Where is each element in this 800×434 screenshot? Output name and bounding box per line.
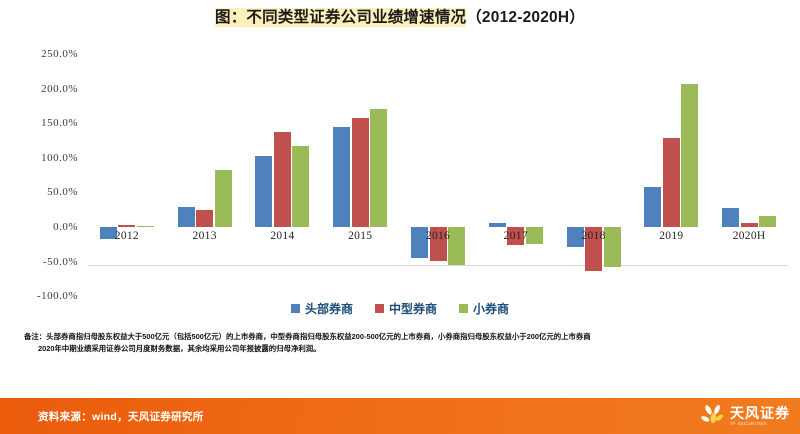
bar-2017-小券商[interactable] xyxy=(526,227,543,244)
bar-2012-小券商[interactable] xyxy=(137,226,154,228)
legend-swatch-icon xyxy=(375,304,384,313)
bar-2014-小券商[interactable] xyxy=(292,146,309,227)
legend-swatch-icon xyxy=(291,304,300,313)
legend-item-中型券商[interactable]: 中型券商 xyxy=(375,300,437,317)
x-axis-tick-label: 2017 xyxy=(504,230,528,242)
x-axis-tick-label: 2015 xyxy=(348,230,372,242)
footer-bar: 资料来源：wind，天风证券研究所 天风证券 TF SECUR xyxy=(0,398,800,434)
legend-swatch-icon xyxy=(459,304,468,313)
bar-2013-小券商[interactable] xyxy=(215,170,232,227)
chart-legend: 头部券商中型券商小券商 xyxy=(0,300,800,317)
chart-page: 图：不同类型证券公司业绩增速情况（2012-2020H） 250.0%200.0… xyxy=(0,0,800,434)
bar-2020H-中型券商[interactable] xyxy=(741,223,758,227)
bar-2019-中型券商[interactable] xyxy=(663,138,680,227)
y-axis-tick-label: -50.0% xyxy=(43,256,78,268)
y-axis-tick-label: 250.0% xyxy=(41,48,78,60)
x-axis-tick-label: 2014 xyxy=(270,230,294,242)
bar-group-2019 xyxy=(644,38,698,298)
x-axis-tick-label: 2012 xyxy=(115,230,139,242)
bar-2014-中型券商[interactable] xyxy=(274,132,291,227)
logo-flower-icon xyxy=(700,403,726,429)
x-axis-tick-label: 2020H xyxy=(733,230,766,242)
footnote-line-1: 备注：头部券商指归母股东权益大于500亿元（包括500亿元）的上市券商，中型券商… xyxy=(24,332,591,341)
chart-title-rest: （2012-2020H） xyxy=(466,9,585,26)
bar-group-2018 xyxy=(567,38,621,298)
logo-company-name-en: TF SECURITIES xyxy=(730,422,790,426)
bar-2019-头部券商[interactable] xyxy=(644,187,661,227)
x-axis-tick-label: 2019 xyxy=(659,230,683,242)
bar-2017-头部券商[interactable] xyxy=(489,223,506,227)
bar-group-2012 xyxy=(100,38,154,298)
bar-group-2017 xyxy=(489,38,543,298)
bar-group-2016 xyxy=(411,38,465,298)
source-text: 资料来源：wind，天风证券研究所 xyxy=(38,409,204,424)
x-axis-tick-label: 2016 xyxy=(426,230,450,242)
y-axis-tick-label: 200.0% xyxy=(41,83,78,95)
legend-item-头部券商[interactable]: 头部券商 xyxy=(291,300,353,317)
bar-2013-头部券商[interactable] xyxy=(178,207,195,227)
bar-group-2013 xyxy=(178,38,232,298)
y-axis-labels: 250.0%200.0%150.0%100.0%50.0%0.0%-50.0%-… xyxy=(0,38,84,298)
bar-plot-area: 201220132014201520162017201820192020H xyxy=(88,38,788,298)
bar-2020H-头部券商[interactable] xyxy=(722,208,739,227)
footnote-line-2: 2020年中期业绩采用证券公司月度财务数据，其余均采用公司年报披露的归母净利润。 xyxy=(24,343,784,355)
y-axis-tick-label: 100.0% xyxy=(41,152,78,164)
legend-item-小券商[interactable]: 小券商 xyxy=(459,300,509,317)
bar-2016-小券商[interactable] xyxy=(448,227,465,265)
chart-footnote: 备注：头部券商指归母股东权益大于500亿元（包括500亿元）的上市券商，中型券商… xyxy=(24,331,784,354)
x-axis-tick-label: 2013 xyxy=(193,230,217,242)
chart-title-container: 图：不同类型证券公司业绩增速情况（2012-2020H） xyxy=(0,8,800,28)
y-axis-tick-label: 50.0% xyxy=(47,186,78,198)
bar-group-2014 xyxy=(255,38,309,298)
bar-2015-头部券商[interactable] xyxy=(333,127,350,227)
logo-text-block: 天风证券 TF SECURITIES xyxy=(730,406,790,426)
legend-label: 头部券商 xyxy=(305,300,353,317)
bar-group-2020H xyxy=(722,38,776,298)
chart-title-highlight: 图：不同类型证券公司业绩增速情况 xyxy=(215,8,466,27)
bar-2013-中型券商[interactable] xyxy=(196,210,213,227)
bar-2020H-小券商[interactable] xyxy=(759,216,776,227)
legend-label: 小券商 xyxy=(473,300,509,317)
bar-2012-中型券商[interactable] xyxy=(118,225,135,227)
y-axis-tick-label: 150.0% xyxy=(41,117,78,129)
legend-label: 中型券商 xyxy=(389,300,437,317)
y-axis-tick-label: 0.0% xyxy=(53,221,78,233)
chart-title: 图：不同类型证券公司业绩增速情况（2012-2020H） xyxy=(215,8,585,28)
x-axis-tick-label: 2018 xyxy=(581,230,605,242)
bar-2014-头部券商[interactable] xyxy=(255,156,272,227)
bar-2015-小券商[interactable] xyxy=(370,109,387,227)
bar-group-2015 xyxy=(333,38,387,298)
bar-2015-中型券商[interactable] xyxy=(352,118,369,227)
bar-2018-小券商[interactable] xyxy=(604,227,621,267)
bar-2019-小券商[interactable] xyxy=(681,84,698,227)
logo-company-name: 天风证券 xyxy=(730,406,790,420)
chart-canvas: 250.0%200.0%150.0%100.0%50.0%0.0%-50.0%-… xyxy=(0,38,800,328)
company-logo: 天风证券 TF SECURITIES xyxy=(700,401,790,431)
